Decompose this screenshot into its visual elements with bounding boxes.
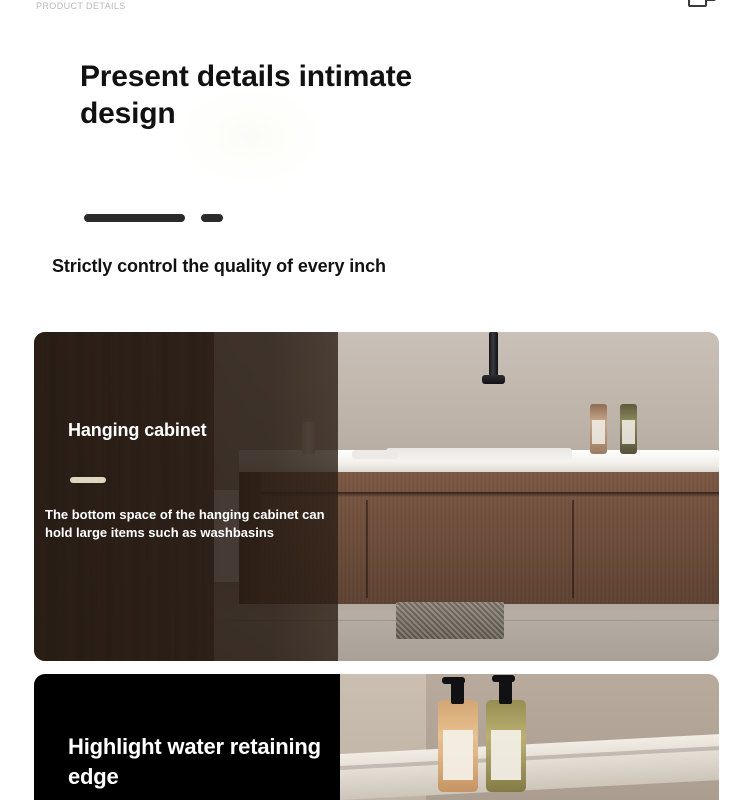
photo-bottle-label xyxy=(622,420,635,444)
page-subtitle: PRODUCT DETAILS xyxy=(36,1,126,12)
photo-cabinet-seam-right xyxy=(572,500,574,598)
panel-hanging-cabinet[interactable]: Hanging cabinet The bottom space of the … xyxy=(34,332,719,661)
copy-icon[interactable] xyxy=(688,0,716,10)
photo-soap-pump-head-right xyxy=(492,675,515,682)
photo-soap-label xyxy=(491,730,521,780)
photo-soap-bottle-amber xyxy=(438,700,478,792)
photo-basin xyxy=(386,448,572,462)
panel-dark-overlay xyxy=(34,332,338,661)
photo-soap-bottle-olive xyxy=(486,700,526,792)
panel-1-title: Hanging cabinet xyxy=(68,420,207,441)
product-detail-page: Details PRODUCT DETAILS Present details … xyxy=(0,0,750,800)
page-header: Details PRODUCT DETAILS xyxy=(0,0,750,12)
panel-1-body: The bottom space of the hanging cabinet … xyxy=(45,506,335,542)
copy-icon-front-square xyxy=(688,0,707,7)
divider-bar-short xyxy=(201,214,223,222)
photo-soap-pump-head-left xyxy=(442,677,465,684)
hero-subheadline: Strictly control the quality of every in… xyxy=(52,256,386,277)
photo-bottle-olive xyxy=(620,404,637,454)
photo-soap-pump-right xyxy=(499,680,512,704)
photo-soap-label xyxy=(443,730,473,780)
photo-bottle-label xyxy=(592,420,605,444)
photo-bottle-amber xyxy=(590,404,607,454)
panel-1-accent-bar xyxy=(70,477,106,483)
divider-bar-long xyxy=(84,214,185,222)
panel-2-title: Highlight water retaining edge xyxy=(68,732,328,792)
vanity-photo xyxy=(34,332,719,661)
photo-faucet xyxy=(489,332,498,376)
photo-basket xyxy=(396,602,504,639)
panel-water-retaining-edge[interactable]: Highlight water retaining edge xyxy=(34,674,719,800)
hero-headline: Present details intimate design xyxy=(80,58,500,132)
photo-basin-inner xyxy=(352,450,398,459)
divider xyxy=(84,214,223,222)
photo-cabinet-seam-left xyxy=(366,500,368,598)
photo-faucet-base xyxy=(482,375,505,384)
